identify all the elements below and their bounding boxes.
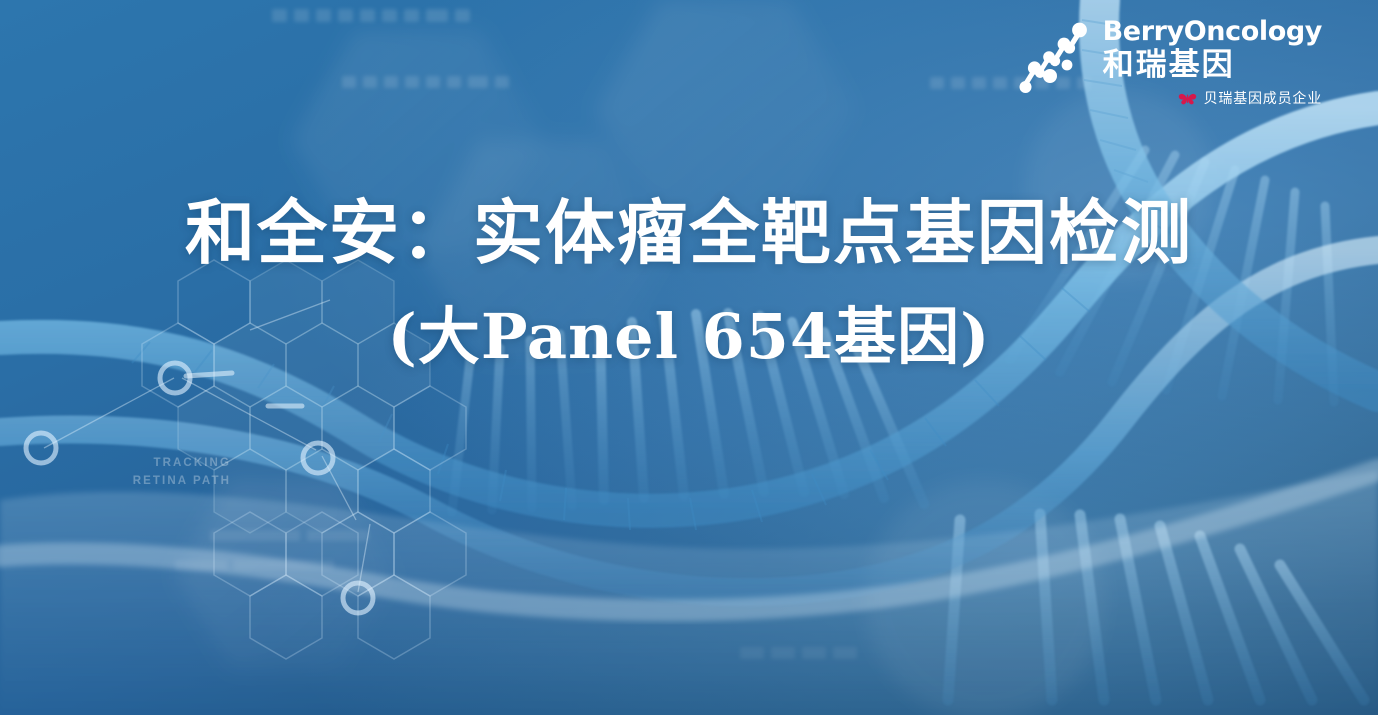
ghost-text-strip-2 xyxy=(342,76,509,88)
tracking-label-line2: RETINA PATH xyxy=(86,473,231,491)
headline-block: 和全安：实体瘤全靶点基因检测 (大Panel 654基因) xyxy=(0,196,1378,370)
butterfly-icon xyxy=(1178,90,1197,107)
ghost-text-strip-6 xyxy=(740,647,857,659)
logo-endorsement-text: 贝瑞基因成员企业 xyxy=(1204,92,1322,106)
page-title: 和全安：实体瘤全靶点基因检测 xyxy=(0,196,1378,270)
ghost-text-strip-1 xyxy=(272,9,470,22)
logo-name-en: BerryOncology xyxy=(1103,18,1322,45)
page-subtitle: (大Panel 654基因) xyxy=(0,304,1378,370)
dna-dots-icon xyxy=(1017,20,1093,106)
ghost-text-strip-4 xyxy=(210,530,369,541)
logo-text-block: BerryOncology 和瑞基因 贝瑞基因成员企业 xyxy=(1103,18,1322,107)
company-logo: BerryOncology 和瑞基因 贝瑞基因成员企业 xyxy=(1017,18,1322,107)
presentation-slide: TRACKING RETINA PATH 和全安：实体瘤全靶点基因检测 (大Pa… xyxy=(0,0,1378,715)
tracking-label-line1: TRACKING xyxy=(86,455,231,473)
logo-endorsement: 贝瑞基因成员企业 xyxy=(1103,90,1322,107)
tracking-label: TRACKING RETINA PATH xyxy=(86,455,231,491)
ghost-text-strip-5 xyxy=(175,560,334,570)
logo-name-cn: 和瑞基因 xyxy=(1103,50,1322,81)
